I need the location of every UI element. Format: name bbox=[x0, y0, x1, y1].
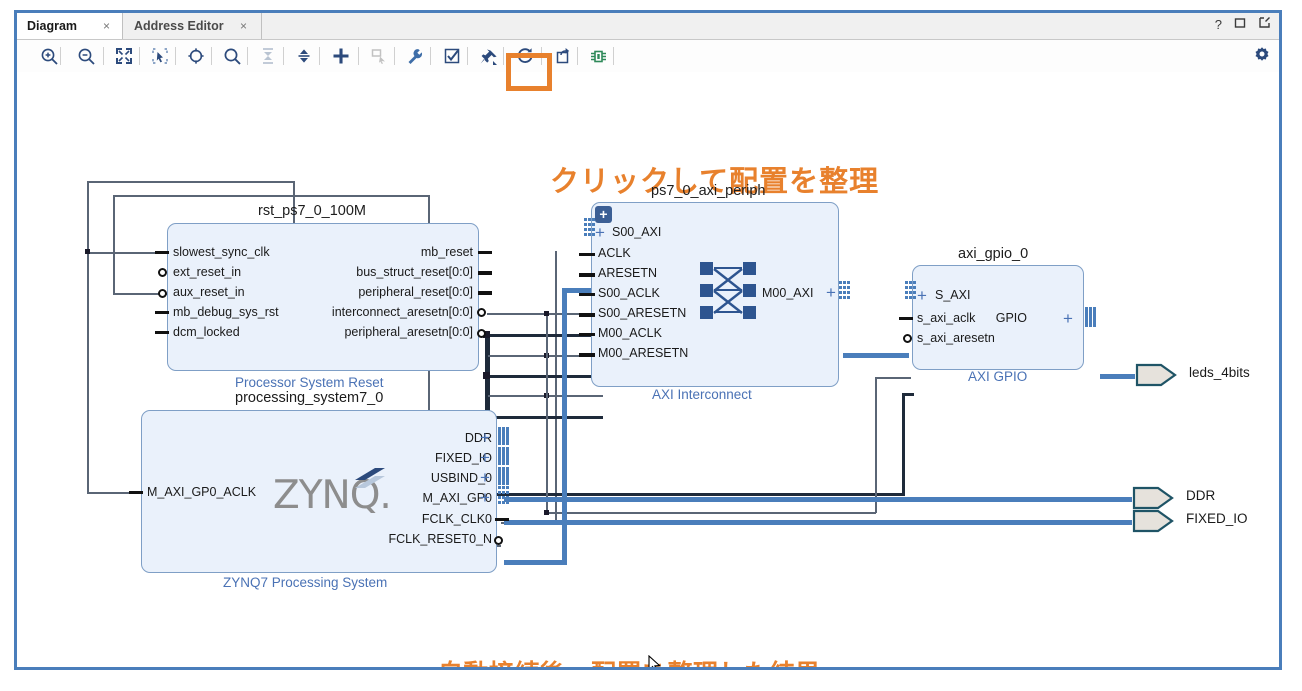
rst-block-title: rst_ps7_0_100M bbox=[258, 203, 366, 219]
bus-grip-saxi bbox=[905, 281, 917, 303]
wire-aresetn-to-gpio bbox=[485, 493, 905, 496]
pin-icon[interactable] bbox=[474, 42, 502, 70]
gear-icon[interactable] bbox=[1253, 46, 1271, 69]
pin-mb-reset[interactable]: mb_reset bbox=[279, 245, 473, 259]
tab-address-editor-label: Address Editor bbox=[124, 19, 224, 33]
pin-stub bbox=[579, 333, 595, 336]
pin-s00-aresetn[interactable]: S00_ARESETN bbox=[598, 306, 686, 320]
diagram-window: Diagram × Address Editor × ? bbox=[14, 10, 1282, 670]
bus-gpio-to-leds bbox=[1100, 374, 1135, 379]
expand-ddr-icon[interactable]: + bbox=[480, 429, 490, 446]
pin-stub bbox=[478, 271, 492, 275]
annotation-bottom-line1: 自動接続後，配置を整理した結果， bbox=[438, 654, 846, 667]
bus-m00axi-to-saxi bbox=[843, 353, 909, 358]
pin-bubble bbox=[494, 536, 503, 545]
pin-slowest-sync-clk[interactable]: slowest_sync_clk bbox=[173, 245, 270, 259]
pin-fixed-io[interactable]: FIXED_IO bbox=[317, 451, 492, 465]
diagram-toolbar bbox=[17, 40, 1279, 73]
pin-fclk-reset0-n[interactable]: FCLK_RESET0_N bbox=[307, 532, 492, 546]
pin-stub bbox=[899, 317, 913, 320]
pin-mb-debug-sys-rst[interactable]: mb_debug_sys_rst bbox=[173, 305, 279, 319]
tab-diagram[interactable]: Diagram × bbox=[17, 13, 123, 39]
pin-m00-axi[interactable]: M00_AXI bbox=[762, 286, 813, 300]
junction-dot bbox=[544, 510, 549, 515]
pin-aresetn[interactable]: ARESETN bbox=[598, 266, 657, 280]
periph-block-subtitle: AXI Interconnect bbox=[652, 387, 752, 402]
pin-stub bbox=[579, 313, 595, 317]
window-controls: ? bbox=[1215, 16, 1271, 32]
zoom-in-icon[interactable] bbox=[35, 42, 63, 70]
pin-stub bbox=[579, 353, 595, 357]
pin-aux-reset-in[interactable]: aux_reset_in bbox=[173, 285, 245, 299]
pin-peripheral-reset[interactable]: peripheral_reset[0:0] bbox=[279, 285, 473, 299]
pin-m00-aclk[interactable]: M00_ACLK bbox=[598, 326, 662, 340]
hierarchy-icon[interactable] bbox=[584, 42, 612, 70]
external-port-label-fixedio: FIXED_IO bbox=[1186, 511, 1248, 526]
bus-grip-m00axi bbox=[839, 281, 851, 303]
pin-s-axi[interactable]: S_AXI bbox=[935, 288, 970, 302]
wire-aresetn-gpio-up bbox=[902, 393, 905, 495]
add-module-icon[interactable] bbox=[365, 42, 393, 70]
bus-grip-maxigp0 bbox=[498, 486, 510, 508]
periph-block-title: ps7_0_axi_periph bbox=[651, 183, 765, 199]
pin-stub bbox=[129, 491, 143, 494]
pin-usbind-0[interactable]: USBIND_0 bbox=[317, 471, 492, 485]
expand-fixedio-icon[interactable]: + bbox=[480, 449, 490, 466]
pin-dcm-locked[interactable]: dcm_locked bbox=[173, 325, 240, 339]
bus-grip-ddr bbox=[498, 427, 509, 445]
tab-diagram-close-icon[interactable]: × bbox=[103, 19, 110, 33]
rst-block-subtitle: Processor System Reset bbox=[235, 375, 384, 390]
pin-stub bbox=[579, 253, 595, 256]
pin-bubble bbox=[903, 334, 912, 343]
pin-stub bbox=[478, 251, 492, 254]
pin-bus-struct-reset[interactable]: bus_struct_reset[0:0] bbox=[279, 265, 473, 279]
pin-stub bbox=[579, 273, 595, 277]
wire-clk-to-gpio bbox=[546, 512, 876, 514]
crossbar-x-icon bbox=[712, 265, 746, 317]
tab-address-editor-close-icon[interactable]: × bbox=[240, 19, 247, 33]
expand-usbind-icon[interactable]: + bbox=[480, 469, 490, 486]
zoom-out-icon[interactable] bbox=[72, 42, 100, 70]
wire-fclkclk0-up bbox=[555, 251, 557, 523]
pin-stub bbox=[495, 518, 509, 521]
junction-dot bbox=[483, 372, 490, 379]
bus-grip-s00axi bbox=[584, 218, 596, 240]
expand-saxi-icon[interactable]: + bbox=[917, 287, 927, 304]
tab-bar: Diagram × Address Editor × ? bbox=[17, 13, 1279, 40]
pin-m00-aresetn[interactable]: M00_ARESETN bbox=[598, 346, 688, 360]
wire-reset-top bbox=[113, 195, 430, 197]
junction-dot bbox=[85, 249, 90, 254]
pin-peripheral-aresetn[interactable]: peripheral_aresetn[0:0] bbox=[269, 325, 473, 339]
wire-clk-v2 bbox=[546, 353, 548, 513]
zoom-selection-icon[interactable] bbox=[146, 42, 174, 70]
mouse-cursor bbox=[648, 655, 661, 667]
pin-s-axi-aclk[interactable]: s_axi_aclk bbox=[917, 311, 975, 325]
help-icon[interactable]: ? bbox=[1215, 17, 1222, 32]
pin-bubble bbox=[477, 308, 486, 317]
wire-aresetn-gpio-in bbox=[902, 393, 914, 396]
collapse-all-icon[interactable] bbox=[254, 42, 282, 70]
bus-grip-usbind bbox=[498, 467, 509, 485]
highlight-box-regenerate-layout bbox=[506, 53, 552, 91]
pin-fclk-clk0[interactable]: FCLK_CLK0 bbox=[317, 512, 492, 526]
ps7-block-title: processing_system7_0 bbox=[235, 390, 383, 406]
pin-m-axi-gp0[interactable]: M_AXI_GP0 bbox=[317, 491, 492, 505]
external-port-label-ddr: DDR bbox=[1186, 488, 1215, 503]
bus-maxigp0-h bbox=[504, 560, 567, 565]
optimize-routing-icon[interactable] bbox=[548, 42, 576, 70]
fit-selection-icon[interactable] bbox=[182, 42, 210, 70]
wire-clk-gpio-up bbox=[875, 377, 877, 513]
pin-s00-axi[interactable]: S00_AXI bbox=[612, 225, 661, 239]
expand-maxigp0-icon[interactable]: + bbox=[480, 489, 490, 506]
pin-s00-aclk[interactable]: S00_ACLK bbox=[598, 286, 660, 300]
pin-interconnect-aresetn[interactable]: interconnect_aresetn[0:0] bbox=[269, 305, 473, 319]
bus-fixedio bbox=[504, 520, 1132, 525]
gpio-block-title: axi_gpio_0 bbox=[958, 246, 1028, 262]
bus-grip-fixedio bbox=[498, 447, 509, 465]
bus-ddr bbox=[504, 497, 1132, 502]
pin-gpio[interactable]: GPIO bbox=[977, 311, 1027, 325]
expand-all-icon[interactable] bbox=[290, 42, 318, 70]
wire-reset-left bbox=[113, 195, 115, 294]
external-port-ddr[interactable] bbox=[1132, 486, 1176, 510]
expand-gpio-icon[interactable]: + bbox=[1063, 310, 1073, 327]
ps7-block-subtitle: ZYNQ7 Processing System bbox=[223, 575, 387, 590]
pin-ddr[interactable]: DDR bbox=[317, 431, 492, 445]
tab-address-editor[interactable]: Address Editor × bbox=[124, 13, 262, 39]
bus-grip-gpio bbox=[1085, 307, 1096, 327]
wire-periph-aresetn-out bbox=[489, 375, 549, 378]
wire-fclk-left bbox=[87, 181, 89, 493]
pin-bubble bbox=[477, 329, 486, 338]
pin-stub bbox=[155, 311, 169, 314]
pin-m-axi-gp0-aclk[interactable]: M_AXI_GP0_ACLK bbox=[147, 485, 256, 499]
diagram-canvas[interactable]: クリックして配置を整理 bbox=[17, 72, 1279, 667]
maximize-icon[interactable] bbox=[1234, 17, 1246, 32]
float-window-icon[interactable] bbox=[1258, 16, 1271, 32]
pin-s-axi-aresetn[interactable]: s_axi_aresetn bbox=[917, 331, 995, 345]
expand-m00axi-icon[interactable]: + bbox=[826, 284, 836, 301]
wire-fclk-top bbox=[87, 181, 295, 183]
pin-stub bbox=[155, 331, 169, 334]
gpio-block-subtitle: AXI GPIO bbox=[968, 369, 1027, 384]
pin-stub bbox=[579, 293, 595, 296]
run-connection-automation-icon[interactable] bbox=[401, 42, 429, 70]
search-icon[interactable] bbox=[218, 42, 246, 70]
external-port-leds-4bits[interactable] bbox=[1135, 363, 1179, 387]
wire-clk-gpio-in bbox=[875, 377, 911, 379]
pin-bubble bbox=[158, 289, 167, 298]
expand-s00axi-icon[interactable]: + bbox=[595, 224, 605, 241]
junction-dot bbox=[544, 311, 549, 316]
external-port-label-leds: leds_4bits bbox=[1189, 365, 1250, 380]
pin-stub bbox=[155, 251, 169, 254]
expand-block-button[interactable]: + bbox=[595, 206, 612, 223]
pin-stub bbox=[478, 291, 492, 295]
validate-design-icon[interactable] bbox=[438, 42, 466, 70]
pin-bubble bbox=[158, 268, 167, 277]
zoom-fit-icon[interactable] bbox=[110, 42, 138, 70]
external-port-fixed-io[interactable] bbox=[1132, 509, 1176, 533]
pin-ext-reset-in[interactable]: ext_reset_in bbox=[173, 265, 241, 279]
pin-aclk[interactable]: ACLK bbox=[598, 246, 631, 260]
wire-m00aresetn bbox=[487, 416, 603, 419]
tab-diagram-label: Diagram bbox=[17, 19, 77, 33]
add-ip-icon[interactable] bbox=[327, 42, 355, 70]
